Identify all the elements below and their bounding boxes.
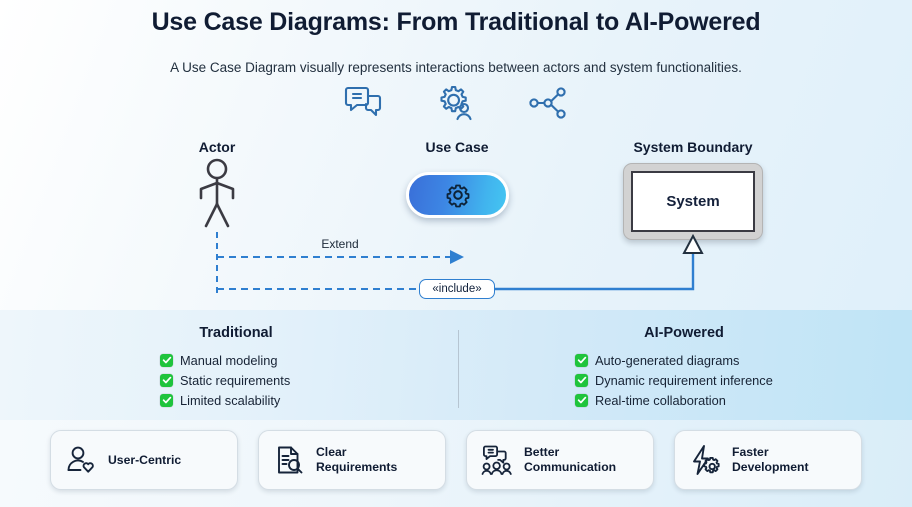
benefit-card-line2: Communication [524,460,616,474]
list-item-label: Real-time collaboration [595,393,726,408]
comparison-heading-traditional: Traditional [156,325,316,341]
list-item-label: Limited scalability [180,393,280,408]
user-heart-icon [65,444,97,476]
list-item: Dynamic requirement inference [575,370,773,390]
benefit-card-line1: Better [524,445,559,459]
list-item-label: Auto-generated diagrams [595,353,739,368]
list-item: Auto-generated diagrams [575,350,773,370]
header-icon-row [0,83,912,123]
benefit-card-faster-development[interactable]: Faster Development [674,430,862,490]
use-case-node[interactable] [406,172,509,218]
network-nodes-icon [526,83,570,123]
include-badge: «include» [419,279,495,299]
benefit-card-line2: Development [732,460,809,474]
benefit-card-line1: User-Centric [108,453,181,467]
system-node: System [631,171,755,232]
comparison-divider [458,330,459,408]
list-item: Manual modeling [160,350,290,370]
comparison-heading-ai: AI-Powered [600,325,768,341]
group-chat-icon [481,444,513,476]
document-search-icon [273,444,305,476]
benefit-card-label: User-Centric [108,453,181,468]
stick-figure-icon [188,158,246,228]
page-title: Use Case Diagrams: From Traditional to A… [0,8,912,37]
list-item: Static requirements [160,370,290,390]
benefit-card-label: Clear Requirements [316,445,397,475]
benefit-card-line2: Requirements [316,460,397,474]
list-item: Limited scalability [160,390,290,410]
list-item-label: Manual modeling [180,353,277,368]
benefit-card-label: Better Communication [524,445,616,475]
background-band-comparison [0,310,912,420]
benefit-card-better-communication[interactable]: Better Communication [466,430,654,490]
bolt-gear-icon [689,444,721,476]
extend-label: Extend [300,237,380,251]
list-item-label: Static requirements [180,373,290,388]
benefit-card-label: Faster Development [732,445,809,475]
benefit-card-line1: Clear [316,445,347,459]
page-subtitle: A Use Case Diagram visually represents i… [0,60,912,75]
use-case-label: Use Case [397,139,517,155]
check-icon [160,394,173,407]
check-icon [575,354,588,367]
background-band-top [0,0,912,310]
comparison-list-traditional: Manual modeling Static requirements Limi… [160,350,290,410]
gear-user-icon [434,83,478,123]
benefit-card-user-centric[interactable]: User-Centric [50,430,238,490]
gear-icon [445,182,471,208]
system-boundary-frame: System [623,163,763,240]
check-icon [575,374,588,387]
check-icon [160,354,173,367]
check-icon [160,374,173,387]
comparison-list-ai: Auto-generated diagrams Dynamic requirem… [575,350,773,410]
benefit-card-line1: Faster [732,445,769,459]
chat-bubbles-icon [342,83,386,123]
list-item: Real-time collaboration [575,390,773,410]
actor-label: Actor [157,139,277,155]
system-boundary-label: System Boundary [613,139,773,155]
list-item-label: Dynamic requirement inference [595,373,773,388]
check-icon [575,394,588,407]
benefit-card-row: User-Centric Clear Requirements [0,430,912,492]
benefit-card-clear-requirements[interactable]: Clear Requirements [258,430,446,490]
infographic-canvas: Use Case Diagrams: From Traditional to A… [0,0,912,507]
